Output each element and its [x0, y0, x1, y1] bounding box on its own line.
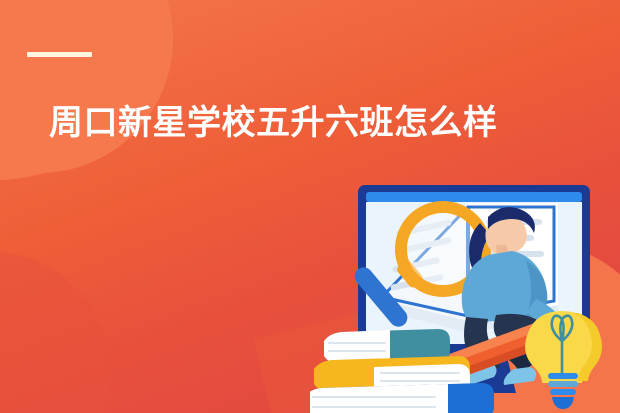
study-research-illustration — [310, 183, 620, 413]
decorative-underline — [27, 52, 92, 57]
promo-banner: 周口新星学校五升六班怎么样 — [0, 0, 620, 413]
lightbulb-icon — [525, 311, 602, 409]
page-title: 周口新星学校五升六班怎么样 — [49, 103, 498, 143]
